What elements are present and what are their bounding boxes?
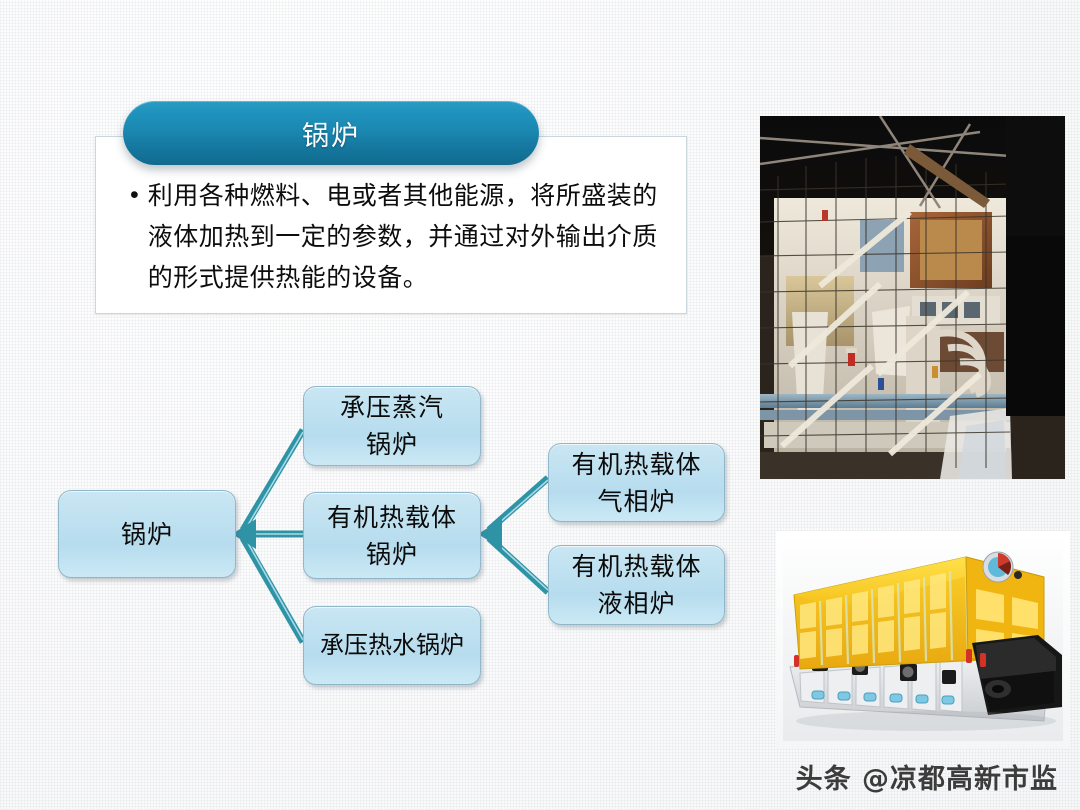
slide-canvas: • 利用各种燃料、电或者其他能源，将所盛装的液体加热到一定的参数，并通过对外输出… bbox=[0, 0, 1080, 810]
node-organic-heat-carrier-liquid-phase-furnace-label: 有机热载体 液相炉 bbox=[571, 548, 701, 622]
node-boiler-root[interactable]: 锅炉 bbox=[58, 490, 236, 578]
node-pressurized-hot-water-boiler[interactable]: 承压热水锅炉 bbox=[303, 606, 481, 685]
node-pressurized-steam-boiler[interactable]: 承压蒸汽 锅炉 bbox=[303, 386, 481, 466]
node-pressurized-steam-boiler-label: 承压蒸汽 锅炉 bbox=[340, 389, 444, 463]
node-pressurized-hot-water-boiler-label: 承压热水锅炉 bbox=[320, 627, 464, 664]
arrowhead-organic bbox=[478, 519, 502, 549]
node-organic-heat-carrier-boiler[interactable]: 有机热载体 锅炉 bbox=[303, 492, 481, 579]
section-title-text: 锅炉 bbox=[302, 114, 360, 153]
node-boiler-root-label: 锅炉 bbox=[121, 516, 173, 553]
watermark-text: 头条 @凉都高新市监 bbox=[796, 757, 1058, 796]
node-organic-heat-carrier-gas-phase-furnace[interactable]: 有机热载体 气相炉 bbox=[548, 443, 725, 522]
section-title-banner: 锅炉 bbox=[123, 101, 539, 165]
node-organic-heat-carrier-boiler-label: 有机热载体 锅炉 bbox=[327, 499, 457, 573]
node-organic-heat-carrier-liquid-phase-furnace[interactable]: 有机热载体 液相炉 bbox=[548, 545, 725, 625]
node-organic-heat-carrier-gas-phase-furnace-label: 有机热载体 气相炉 bbox=[571, 446, 701, 520]
